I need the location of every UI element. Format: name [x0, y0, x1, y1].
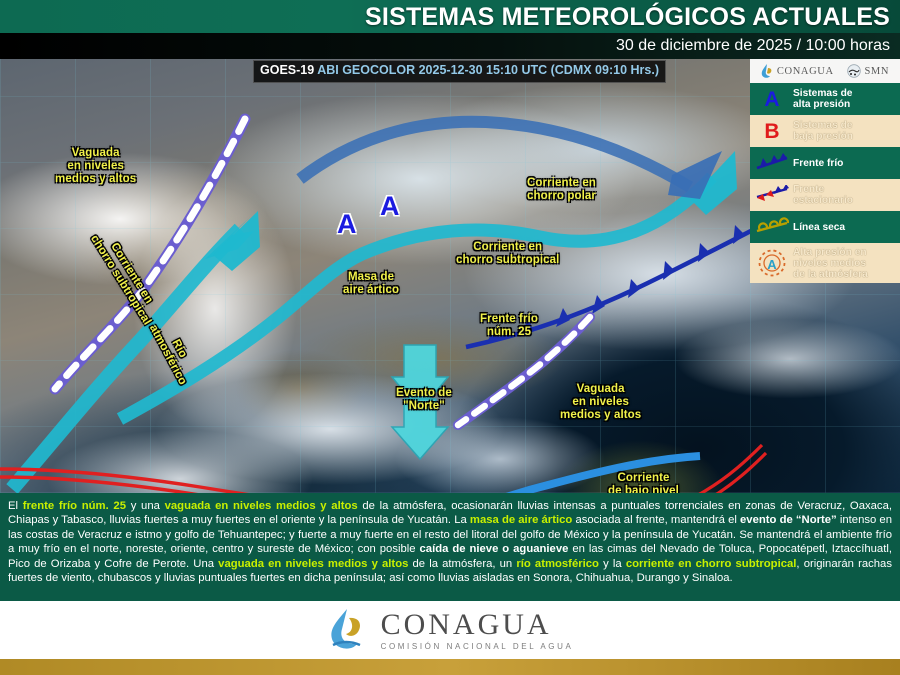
- legend-row-letter-a[interactable]: ASistemas de alta presión: [750, 83, 900, 115]
- legend-row-letter-b[interactable]: BSistemas de baja presión: [750, 115, 900, 147]
- footer-brand-name: CONAGUA: [381, 610, 574, 640]
- map-label-vaguada-niveles-medios-altos-noroeste: Vaguada en niveles medios y altos: [55, 147, 136, 186]
- letter-a-glyph: A: [764, 89, 779, 110]
- conagua-logo-icon: [327, 607, 371, 653]
- dry-line-icon: [755, 217, 789, 237]
- satellite-source-bar: GOES-19 ABI GEOCOLOR 2025-12-30 15:10 UT…: [253, 60, 666, 83]
- smn-logo-icon: [847, 64, 861, 78]
- map-label-evento-de-norte: Evento de "Norte": [396, 387, 452, 413]
- letter-a-icon: A: [755, 86, 789, 112]
- legend-brand-secondary: SMN: [864, 66, 889, 77]
- legend-row-label: Sistemas de baja presión: [793, 120, 853, 142]
- summary-highlight-green: río atmosférico: [516, 558, 599, 570]
- svg-text:A: A: [767, 257, 777, 272]
- legend-row-mid-level-high[interactable]: AAlta presión en niveles medios de la at…: [750, 243, 900, 283]
- letter-b-icon: B: [755, 118, 789, 144]
- map-legend: CONAGUA SMN ASistemas de alta presiónBSi…: [750, 59, 900, 283]
- summary-highlight-white: caída de nieve o aguanieve: [420, 543, 569, 555]
- letter-b-glyph: B: [764, 121, 779, 142]
- map-label-corriente-chorro-polar: Corriente en chorro polar: [527, 177, 596, 203]
- footer-gold-bar: [0, 659, 900, 675]
- map-high-pressure-a-2: A: [380, 193, 400, 220]
- mid-level-high-icon: A: [755, 250, 789, 276]
- map-label-masa-de-aire-artico: Masa de aire ártico: [343, 271, 399, 297]
- legend-row-dry-line[interactable]: Línea seca: [750, 211, 900, 243]
- legend-row-stationary-front[interactable]: Frente estacionario: [750, 179, 900, 211]
- bulletin-date: 30 de diciembre de 2025 / 10:00 horas: [616, 35, 890, 57]
- legend-row-label: Frente estacionario: [793, 184, 853, 206]
- map-label-corriente-de-bajo-nivel: Corriente de bajo nivel: [608, 472, 679, 493]
- summary-highlight-green: masa de aire ártico: [470, 514, 572, 526]
- footer-tagline: COMISIÓN NACIONAL DEL AGUA: [381, 642, 574, 651]
- map-label-frente-frio-num-25: Frente frío núm. 25: [480, 313, 538, 339]
- summary-highlight-green: corriente en chorro subtropical: [626, 558, 797, 570]
- legend-row-list: ASistemas de alta presiónBSistemas de ba…: [750, 83, 900, 283]
- summary-text-run: asociada al frente, mantendrá el: [572, 514, 740, 526]
- dry-line-icon: [755, 214, 789, 240]
- footer-brand: CONAGUA COMISIÓN NACIONAL DEL AGUA: [0, 601, 900, 659]
- summary-text-run: y la: [599, 558, 626, 570]
- satellite-source-detail: ABI GEOCOLOR 2025-12-30 15:10 UTC (CDMX …: [317, 63, 659, 77]
- stationary-front-icon: [755, 185, 789, 205]
- summary-text-run: y una: [126, 500, 165, 512]
- legend-row-label: Frente frío: [793, 158, 843, 169]
- map-label-vaguada-niveles-medios-altos-sureste: Vaguada en niveles medios y altos: [560, 383, 641, 422]
- map-high-pressure-a-1: A: [337, 211, 357, 238]
- polar-jet: [300, 122, 722, 199]
- page-title: SISTEMAS METEOROLÓGICOS ACTUALES: [365, 2, 890, 32]
- legend-row-label: Línea seca: [793, 222, 845, 233]
- forecast-summary-text: El frente frío núm. 25 y una vaguada en …: [8, 499, 892, 585]
- summary-highlight-white: evento de “Norte”: [740, 514, 837, 526]
- legend-row-label: Sistemas de alta presión: [793, 88, 852, 110]
- cold-front-icon: [755, 153, 789, 173]
- mid-level-high-icon: A: [755, 248, 789, 278]
- map-label-corriente-chorro-subtropical-centro: Corriente en chorro subtropical: [456, 241, 559, 267]
- legend-brand-primary: CONAGUA: [777, 66, 834, 77]
- legend-row-label: Alta presión en niveles medios de la atm…: [793, 247, 868, 280]
- legend-row-cold-front[interactable]: Frente frío: [750, 147, 900, 179]
- summary-highlight-green: frente frío núm. 25: [23, 500, 126, 512]
- summary-text-run: de la atmósfera, un: [408, 558, 516, 570]
- weather-bulletin-page: SISTEMAS METEOROLÓGICOS ACTUALES 30 de d…: [0, 0, 900, 675]
- summary-text-run: El: [8, 500, 23, 512]
- summary-highlight-green: vaguada en niveles medios y altos: [218, 558, 408, 570]
- conagua-drop-icon: [761, 64, 774, 79]
- stationary-front-icon: [755, 182, 789, 208]
- satellite-source-name: GOES-19: [260, 63, 314, 77]
- cold-front-icon: [755, 150, 789, 176]
- summary-highlight-green: vaguada en niveles medios y altos: [165, 500, 358, 512]
- legend-brand-header: CONAGUA SMN: [750, 59, 900, 83]
- forecast-summary: El frente frío núm. 25 y una vaguada en …: [0, 493, 900, 601]
